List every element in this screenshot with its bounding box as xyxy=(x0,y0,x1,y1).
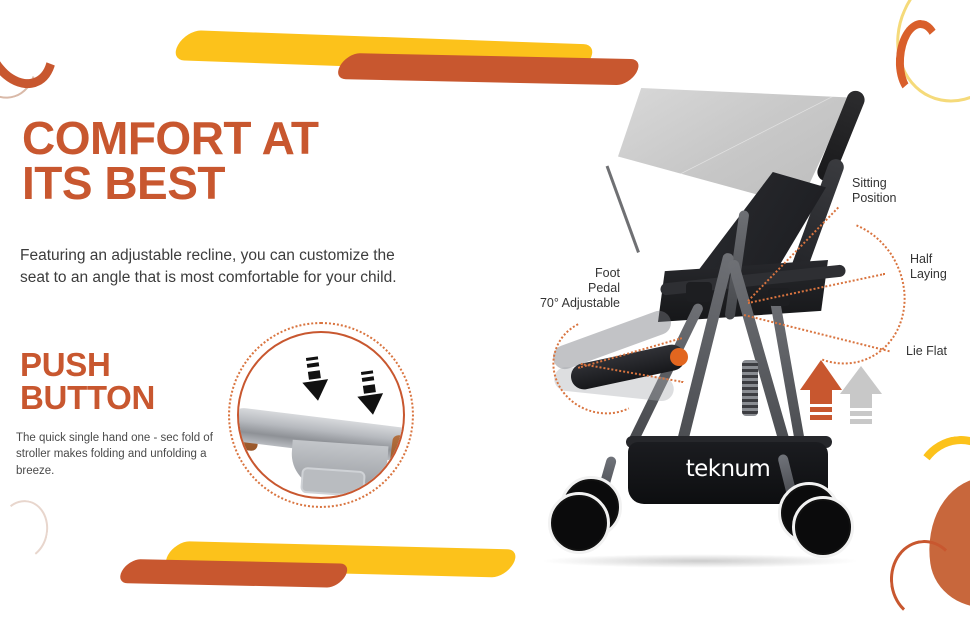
front-wheel xyxy=(548,492,610,554)
label-half-line-2: Laying xyxy=(910,267,947,282)
feature-title-line-1: PUSH xyxy=(20,348,155,381)
label-half-laying: Half Laying xyxy=(910,252,947,282)
label-sitting-position: Sitting Position xyxy=(852,176,896,206)
top-left-orange-arc xyxy=(0,0,70,100)
feature-title-line-2: BUTTON xyxy=(20,381,155,414)
label-sitting-line-2: Position xyxy=(852,191,896,206)
bottom-left-faint-arc xyxy=(0,496,53,564)
rear-wheel xyxy=(792,496,854,558)
handle-grip-right xyxy=(389,435,405,474)
label-foot-pedal: Foot Pedal 70° Adjustable xyxy=(516,266,620,311)
lede-paragraph: Featuring an adjustable recline, you can… xyxy=(20,245,410,290)
banner-canvas: COMFORT AT ITS BEST Featuring an adjusta… xyxy=(0,0,970,600)
bottom-orange-bar xyxy=(115,559,352,588)
feature-title: PUSH BUTTON xyxy=(20,348,155,414)
push-button-inset xyxy=(228,322,414,508)
footrest-pivot-dot xyxy=(670,348,688,366)
inset-solid-ring xyxy=(237,331,405,499)
label-foot-line-3: 70° Adjustable xyxy=(516,296,620,311)
up-arrow-icon xyxy=(800,360,842,420)
ground-shadow xyxy=(540,554,860,568)
bottom-yellow-bar xyxy=(160,541,521,578)
headline: COMFORT AT ITS BEST xyxy=(22,116,319,206)
top-left-thin-arc xyxy=(0,0,51,109)
label-half-line-1: Half xyxy=(910,252,947,267)
suspension-spring xyxy=(742,360,758,416)
label-lie-flat: Lie Flat xyxy=(906,344,947,359)
frame-hinge xyxy=(686,282,712,302)
brand-logo: teknum xyxy=(628,456,828,482)
headline-line-2: ITS BEST xyxy=(22,161,319,206)
headline-line-1: COMFORT AT xyxy=(22,116,319,161)
label-foot-line-1: Foot xyxy=(516,266,620,281)
label-foot-line-2: Pedal xyxy=(516,281,620,296)
feature-description: The quick single hand one - sec fold of … xyxy=(16,430,216,479)
label-sitting-line-1: Sitting xyxy=(852,176,896,191)
fold-knob-slot xyxy=(300,467,366,497)
up-arrow-icon xyxy=(840,366,882,424)
